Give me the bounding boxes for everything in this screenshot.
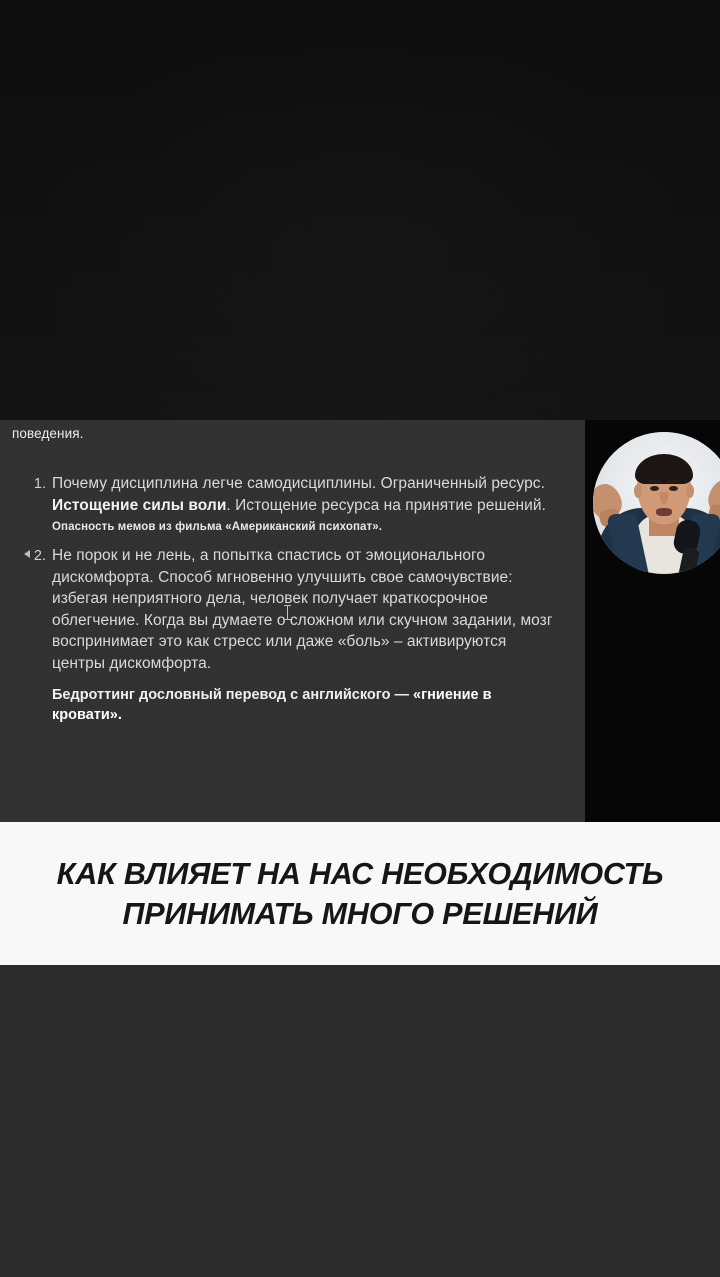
eyebrow-right	[667, 480, 680, 483]
list-item-marker[interactable]: 2.	[0, 546, 46, 567]
list-item[interactable]: 1. Почему дисциплина легче самодисциплин…	[0, 473, 560, 535]
letterbox-top	[0, 0, 720, 420]
slide-numbered-list: 1. Почему дисциплина легче самодисциплин…	[0, 473, 560, 735]
eye-right	[669, 486, 678, 491]
presenter-video-column[interactable]	[585, 420, 720, 822]
presenter-avatar[interactable]	[593, 432, 720, 574]
caption-bar: КАК ВЛИЯЕТ НА НАС НЕОБХОДИМОСТЬ ПРИНИМАТ…	[0, 822, 720, 965]
list-item-number: 2.	[34, 548, 46, 564]
video-screen: поведения. 1. Почему дисциплина легче са…	[0, 0, 720, 1277]
ear-left	[634, 484, 642, 498]
list-item-subnote: Опасность мемов из фильма «Американский …	[52, 519, 560, 535]
text-cursor-icon	[287, 605, 288, 620]
list-item-body: Почему дисциплина легче самодисциплины. …	[52, 473, 560, 516]
list-item-number: 1.	[34, 476, 46, 492]
text-run: Не порок и не лень, а попытка спастись о…	[52, 547, 553, 672]
text-run-bold: Истощение силы воли	[52, 497, 226, 514]
eye-left	[650, 486, 659, 491]
caption-line-1: КАК ВЛИЯЕТ НА НАС НЕОБХОДИМОСТЬ	[57, 854, 664, 894]
nose	[660, 492, 668, 504]
text-run: . Истощение ресурса на принятие решений.	[226, 497, 546, 514]
list-item-marker: 1.	[0, 474, 46, 495]
slide-continuation-text: поведения.	[12, 426, 84, 441]
collapse-triangle-icon[interactable]	[24, 550, 30, 558]
text-run-bold: Бедроттинг дословный перевод с английско…	[52, 687, 413, 703]
caption-line-2: ПРИНИМАТЬ МНОГО РЕШЕНИЙ	[122, 894, 597, 934]
list-item-body: Не порок и не лень, а попытка спастись о…	[52, 545, 560, 674]
list-item-afternote: Бедроттинг дословный перевод с английско…	[52, 685, 560, 725]
mouth	[656, 508, 672, 516]
eyebrow-left	[648, 480, 661, 483]
screen-share-region: поведения. 1. Почему дисциплина легче са…	[0, 420, 720, 822]
ear-right	[686, 484, 694, 498]
slide-panel[interactable]: поведения. 1. Почему дисциплина легче са…	[0, 420, 585, 822]
letterbox-bottom	[0, 965, 720, 1277]
text-run: Почему дисциплина легче самодисциплины. …	[52, 475, 545, 492]
list-item[interactable]: 2. Не порок и не лень, а попытка спастис…	[0, 545, 560, 725]
